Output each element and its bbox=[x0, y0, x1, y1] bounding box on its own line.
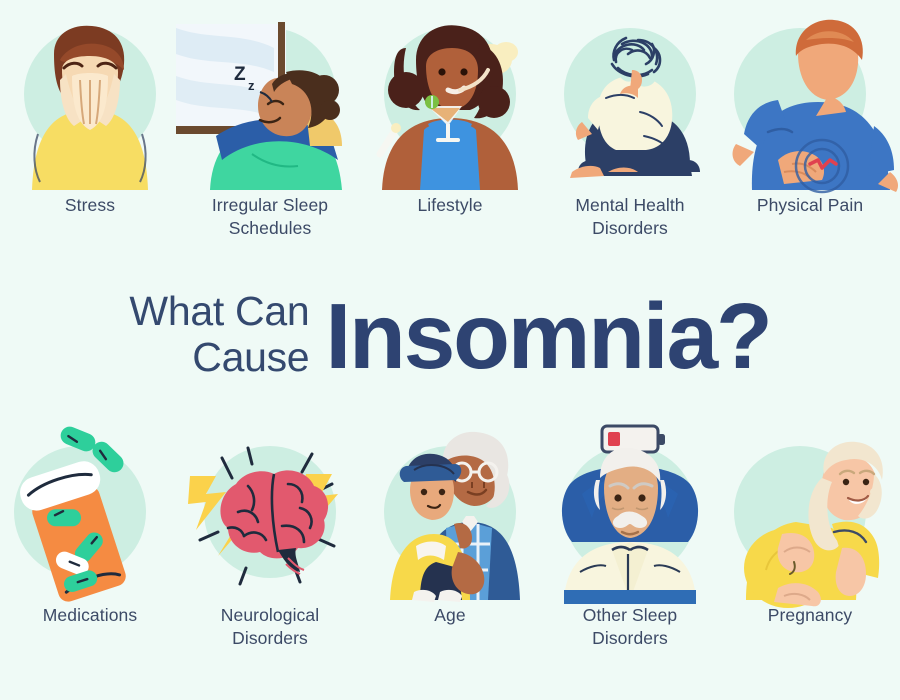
man-holding-lower-back-pain-icon bbox=[722, 14, 898, 190]
pregnant-woman-icon bbox=[722, 424, 898, 600]
cause-card-irregular-sleep: Z z Irregular Sleep Schedules bbox=[180, 14, 360, 240]
cause-label-line1: Mental Health bbox=[575, 195, 684, 215]
cause-label-line2: Disorders bbox=[592, 218, 668, 238]
cause-label: Other Sleep Disorders bbox=[545, 604, 715, 650]
cause-label: Mental Health Disorders bbox=[545, 194, 715, 240]
svg-text:z: z bbox=[248, 78, 255, 93]
person-curled-up-tangled-thoughts-icon bbox=[542, 14, 718, 190]
cause-card-medications: Medications bbox=[0, 424, 180, 650]
headline-kicker: What Can Cause bbox=[129, 288, 309, 384]
cause-label: Pregnancy bbox=[725, 604, 895, 627]
cause-label: Medications bbox=[5, 604, 175, 627]
cause-label: Lifestyle bbox=[365, 194, 535, 217]
battery bbox=[602, 426, 665, 452]
cause-label-line1: Stress bbox=[65, 195, 115, 215]
cause-card-stress: Stress bbox=[0, 14, 180, 240]
person-sleeping-on-pillow-zzz-icon: Z z bbox=[182, 14, 358, 190]
headline-kicker-line2: Cause bbox=[192, 334, 309, 380]
headline-kicker-line1: What Can bbox=[129, 288, 309, 334]
brain-with-lightning-bolts-icon bbox=[182, 424, 358, 600]
causes-row-bottom: Medications bbox=[0, 424, 900, 650]
elderly-man-in-bed-low-battery-icon bbox=[542, 424, 718, 600]
stressed-person-hands-on-face-icon bbox=[2, 14, 178, 190]
cause-label-line1: Other Sleep bbox=[583, 605, 678, 625]
causes-row-top: Stress bbox=[0, 14, 900, 240]
cause-label: Physical Pain bbox=[725, 194, 895, 217]
cause-label-line2: Disorders bbox=[232, 628, 308, 648]
cause-card-other-sleep-disorders: Other Sleep Disorders bbox=[540, 424, 720, 650]
spilled-pill-bottle-icon bbox=[2, 424, 178, 600]
cause-card-age: Age bbox=[360, 424, 540, 650]
cause-label: Stress bbox=[5, 194, 175, 217]
headline: What Can Cause Insomnia? bbox=[0, 276, 900, 396]
cause-label-line2: Schedules bbox=[229, 218, 312, 238]
infographic-canvas: Stress bbox=[0, 0, 900, 700]
cause-label: Irregular Sleep Schedules bbox=[185, 194, 355, 240]
cause-label-line2: Disorders bbox=[592, 628, 668, 648]
cause-card-mental-health: Mental Health Disorders bbox=[540, 14, 720, 240]
cause-label: Age bbox=[365, 604, 535, 627]
cause-label-line1: Age bbox=[434, 605, 465, 625]
cause-card-neurological: Neurological Disorders bbox=[180, 424, 360, 650]
cause-label-line1: Lifestyle bbox=[417, 195, 482, 215]
cause-label: Neurological Disorders bbox=[185, 604, 355, 650]
cause-card-pregnancy: Pregnancy bbox=[720, 424, 900, 650]
cause-label-line1: Physical Pain bbox=[757, 195, 863, 215]
cause-label-line1: Neurological bbox=[221, 605, 319, 625]
cause-label-line1: Medications bbox=[43, 605, 137, 625]
cause-card-lifestyle: Lifestyle bbox=[360, 14, 540, 240]
cause-card-physical-pain: Physical Pain bbox=[720, 14, 900, 240]
svg-text:Z: Z bbox=[234, 64, 246, 85]
woman-with-cocktail-and-cigarette-icon bbox=[362, 14, 538, 190]
cause-label-line1: Irregular Sleep bbox=[212, 195, 328, 215]
headline-emphasis: Insomnia? bbox=[325, 288, 770, 384]
cause-label-line1: Pregnancy bbox=[768, 605, 853, 625]
grandparent-holding-child-icon bbox=[362, 424, 538, 600]
